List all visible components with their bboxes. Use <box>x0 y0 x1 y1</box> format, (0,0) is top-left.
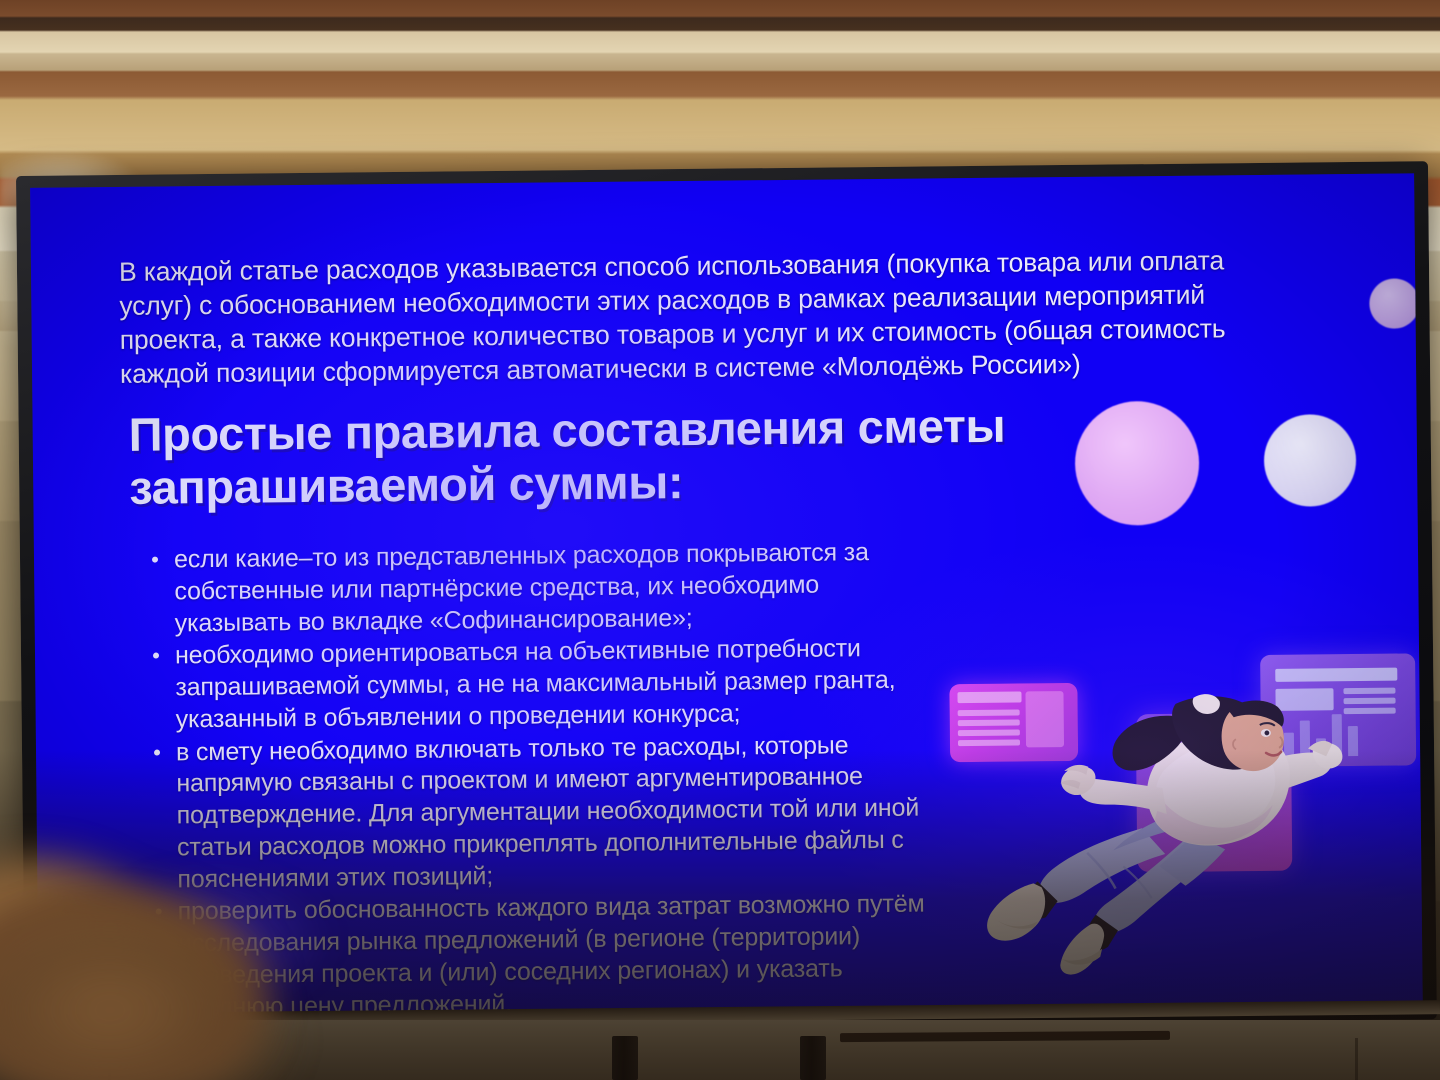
slide-heading: Простые правила составления сметы запраш… <box>128 399 1089 514</box>
list-item: если какие–то из представленных расходов… <box>146 536 937 640</box>
intro-paragraph: В каждой статье расходов указывается спо… <box>119 243 1292 391</box>
decor-circle-medium-icon <box>1264 414 1357 507</box>
decor-circle-small-icon <box>1369 278 1420 329</box>
list-item: необходимо ориентироваться на объективны… <box>147 633 938 737</box>
decor-circle-large-icon <box>1074 401 1199 526</box>
presentation-room-photo: В каждой статье расходов указывается спо… <box>0 0 1440 1080</box>
foreground-audience-head-core <box>0 850 360 1080</box>
